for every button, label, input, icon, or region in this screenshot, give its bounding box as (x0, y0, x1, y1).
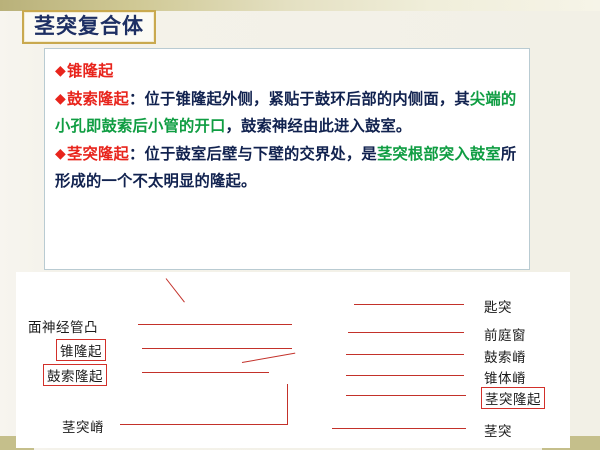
leader-line-left-4-riser (287, 384, 288, 425)
paragraph-2-colon: ： (129, 90, 145, 108)
paragraph-styloid-eminence: ◆茎突隆起：位于鼓室后壁与下壁的交界处，是茎突根部突入鼓室所形成的一个不太明显的… (55, 141, 521, 196)
leader-line-left-2 (142, 348, 292, 349)
figure-label-cochleariform-process: 匙突 (484, 296, 512, 316)
leader-line-left-4 (120, 424, 288, 425)
leader-line-left-1 (138, 324, 292, 325)
figure-label-pyramidal-ridge: 锥体嵴 (484, 367, 526, 387)
figure-label-chorda-tympani-eminence: 鼓索隆起 (43, 364, 107, 386)
paragraph-3-run-2: 茎突根部突入鼓室 (377, 145, 501, 163)
bullet-diamond-icon: ◆ (55, 91, 66, 107)
paragraph-2-run-3: ，鼓索神经由此进入鼓室。 (225, 117, 411, 135)
paragraph-1-heading: 锥隆起 (67, 62, 114, 80)
figure-label-vestibular-window: 前庭窗 (484, 324, 526, 344)
leader-line-right-4 (346, 375, 464, 376)
leader-line-right-2 (348, 332, 464, 333)
page-title: 茎突复合体 (34, 15, 144, 37)
leader-line-top-diagonal (166, 278, 185, 302)
paragraph-2-heading: 鼓索隆起 (67, 90, 129, 108)
slide-canvas: 茎突复合体 ◆锥隆起 ◆鼓索隆起：位于锥隆起外侧，紧贴于鼓环后部的内侧面，其尖端… (0, 0, 600, 450)
figure-label-conical-eminence: 锥隆起 (56, 339, 106, 361)
leader-line-right-1 (354, 304, 464, 305)
figure-label-facial-canal-prominence: 面神经管凸 (28, 316, 98, 336)
page-title-box: 茎突复合体 (22, 10, 156, 44)
leader-line-right-6 (332, 428, 466, 429)
figure-label-styloid-eminence: 茎突隆起 (481, 387, 545, 409)
leader-line-left-3b (242, 353, 295, 363)
paragraph-3-run-1: 位于鼓室后壁与下壁的交界处，是 (144, 145, 376, 163)
description-panel: ◆锥隆起 ◆鼓索隆起：位于锥隆起外侧，紧贴于鼓环后部的内侧面，其尖端的小孔即鼓索… (44, 48, 530, 270)
bullet-diamond-icon: ◆ (55, 63, 66, 79)
paragraph-chorda-tympani-eminence: ◆鼓索隆起：位于锥隆起外侧，紧贴于鼓环后部的内侧面，其尖端的小孔即鼓索后小管的开… (55, 86, 521, 141)
bullet-diamond-icon: ◆ (55, 146, 66, 162)
paragraph-3-colon: ： (129, 145, 145, 163)
paragraph-3-heading: 茎突隆起 (67, 145, 129, 163)
leader-line-right-5 (346, 395, 466, 396)
paragraph-conical-eminence: ◆锥隆起 (55, 58, 521, 86)
paragraph-2-run-1: 位于锥隆起外侧，紧贴于鼓环后部的内侧面，其 (144, 90, 469, 108)
leader-line-left-3 (142, 372, 269, 373)
figure-label-styloid-ridge: 茎突嵴 (62, 416, 104, 436)
leader-line-right-3 (346, 354, 464, 355)
figure-label-styloid-process: 茎突 (484, 420, 512, 440)
figure-label-chorda-tympani-ridge: 鼓索嵴 (484, 346, 526, 366)
